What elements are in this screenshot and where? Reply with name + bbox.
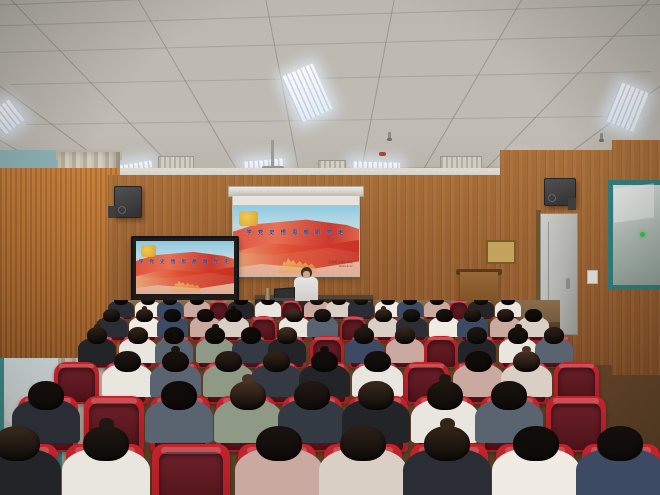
seat-frame-highlight — [428, 337, 454, 340]
audience-member — [375, 309, 391, 322]
slide-footer: 芜湖职业技术学院 2021.6.17 — [328, 260, 353, 269]
slide-content: 学 党 史 悟 思 想 跟 党 走 芜湖职业技术学院 2021.6.17 — [233, 205, 359, 276]
audience-member — [286, 309, 302, 322]
seat-frame-highlight — [161, 447, 220, 454]
audience-member — [597, 426, 644, 461]
audience-member — [190, 300, 203, 305]
audience-head — [525, 309, 541, 322]
audience-member — [381, 300, 394, 305]
audience-head — [28, 381, 64, 410]
seat-frame-highlight — [253, 317, 274, 320]
audience-member — [261, 300, 274, 305]
presenter-shirt — [294, 277, 318, 301]
seated-presenter — [294, 267, 318, 301]
sprinkler-head-center — [388, 132, 391, 140]
seat-frame-highlight — [559, 364, 593, 368]
audience-head — [513, 351, 540, 373]
audience-member — [491, 381, 527, 410]
audience-member — [103, 309, 119, 322]
audience-head — [544, 327, 564, 344]
audience-head — [508, 327, 528, 344]
audience-member — [403, 309, 419, 322]
audience-head — [340, 426, 387, 461]
audience-member — [354, 327, 374, 344]
audience-member — [332, 300, 345, 305]
seat-frame-highlight — [343, 317, 364, 320]
audience-head — [263, 351, 290, 373]
wall-plaque — [486, 240, 516, 264]
audience-member — [294, 381, 330, 410]
audience-hair-bun — [94, 324, 101, 330]
audience-member — [513, 426, 560, 461]
audience-hair-bun — [212, 324, 219, 330]
audience-member — [508, 327, 528, 344]
audience-head — [0, 426, 40, 461]
audience-head — [491, 381, 527, 410]
audience-member — [430, 300, 443, 305]
sprinkler-head-right — [600, 133, 603, 141]
seat-frame-highlight — [211, 301, 228, 303]
audience-head — [358, 381, 394, 410]
tv-slide-content: 学 党 史 悟 思 想 跟 党 走 — [136, 241, 234, 294]
audience-head — [497, 309, 513, 322]
audience-member — [525, 309, 541, 322]
audience-hair-bun — [381, 306, 387, 310]
presenter-face — [303, 271, 310, 278]
audience-hair-bun — [470, 306, 476, 310]
audience-head — [164, 327, 184, 344]
audience-head — [364, 351, 391, 373]
audience-seating — [0, 300, 660, 495]
light-louver — [0, 99, 25, 135]
audience-member — [427, 381, 463, 410]
audience-head — [513, 426, 560, 461]
audience-member — [197, 309, 213, 322]
audience-member — [544, 327, 564, 344]
audience-head — [465, 351, 492, 373]
audience-member — [230, 381, 266, 410]
audience-member — [114, 300, 127, 305]
ceiling-grid-line — [9, 71, 650, 85]
audience-head — [354, 327, 374, 344]
tv-slide-heading: 学 党 史 悟 思 想 跟 党 走 — [136, 259, 234, 265]
seat-frame-highlight — [59, 364, 93, 368]
seat-frame-highlight — [283, 301, 300, 303]
audience-head — [277, 327, 297, 344]
audience-head — [128, 327, 148, 344]
audience-member — [128, 327, 148, 344]
audience-head — [215, 351, 242, 373]
audience-member — [465, 351, 492, 373]
audience-head — [241, 327, 261, 344]
slide-footer-date: 2021.6.17 — [328, 264, 353, 269]
audience-head — [424, 426, 471, 461]
lecture-hall-photo: 学 党 史 悟 思 想 跟 党 走 芜湖职业技术学院 2021.6.17 学 党… — [0, 0, 660, 495]
audience-head — [464, 309, 480, 322]
projector-mount-pole — [271, 140, 274, 166]
light-panel-left-edge — [0, 99, 25, 135]
audience-head — [164, 309, 180, 322]
audience-hair-bun — [440, 418, 456, 430]
audience-member — [136, 309, 152, 322]
audience-member — [513, 351, 540, 373]
audience-member — [424, 426, 471, 461]
audience-member — [234, 300, 247, 305]
audience-member — [314, 309, 330, 322]
audience-member — [358, 381, 394, 410]
audience-member — [141, 300, 154, 305]
speaker-right-bracket — [568, 198, 576, 210]
audience-member — [464, 309, 480, 322]
tv-screen-content: 学 党 史 悟 思 想 跟 党 走 — [136, 241, 234, 294]
seat-frame-highlight — [409, 364, 443, 368]
audience-head — [311, 351, 338, 373]
audience-member — [354, 300, 367, 305]
indicator-led — [640, 232, 645, 237]
audience-head — [87, 327, 107, 344]
audience-member — [277, 327, 297, 344]
audience-head — [161, 381, 197, 410]
projection-screen: 学 党 史 悟 思 想 跟 党 走 芜湖职业技术学院 2021.6.17 — [232, 195, 360, 277]
audience-member — [0, 426, 40, 461]
audience-member — [225, 309, 241, 322]
audience-member — [161, 381, 197, 410]
audience-member — [310, 300, 323, 305]
audience-member — [311, 351, 338, 373]
seat-upholstery — [159, 452, 223, 495]
window-glare — [614, 183, 654, 223]
smoke-detector — [379, 152, 386, 156]
audience-head — [197, 309, 213, 322]
audience-member — [164, 309, 180, 322]
audience-member — [28, 381, 64, 410]
audience-member — [215, 351, 242, 373]
audience-head — [205, 327, 225, 344]
audience-head — [256, 426, 303, 461]
audience-head — [103, 309, 119, 322]
audience-head — [403, 309, 419, 322]
audience-head — [136, 309, 152, 322]
audience-head — [114, 351, 141, 373]
audience-head — [597, 426, 644, 461]
audience-hair-bun — [99, 418, 115, 430]
seat-frame-highlight — [451, 301, 468, 303]
speaker-left-bracket — [108, 206, 116, 218]
audience-hair-bun — [142, 306, 148, 310]
audience-member — [114, 351, 141, 373]
ceiling-grid-line — [0, 34, 660, 53]
audience-member — [83, 426, 130, 461]
audience-head — [375, 309, 391, 322]
audience-member — [263, 351, 290, 373]
audience-head — [395, 327, 415, 344]
auditorium-seat[interactable] — [152, 444, 230, 495]
screen-top-band — [233, 196, 359, 205]
audience-member — [501, 300, 514, 305]
audience-head — [294, 381, 330, 410]
audience-member — [162, 351, 189, 373]
slide-anniversary-emblem — [239, 211, 258, 227]
audience-head — [286, 309, 302, 322]
audience-member — [256, 426, 303, 461]
slide-heading: 学 党 史 悟 思 想 跟 党 走 — [233, 229, 359, 236]
seat-frame-highlight — [91, 398, 137, 404]
audience-member — [395, 327, 415, 344]
audience-member — [467, 327, 487, 344]
audience-head — [230, 381, 266, 410]
audience-head — [162, 351, 189, 373]
audience-hair-bun — [515, 324, 522, 330]
ceiling-grid-line — [0, 3, 660, 27]
tv-anniversary-emblem — [141, 245, 156, 257]
audience-member — [497, 309, 513, 322]
audience-member — [163, 300, 176, 305]
audience-member — [340, 426, 387, 461]
light-switch-panel[interactable] — [587, 270, 598, 284]
wall-tv-monitor: 学 党 史 悟 思 想 跟 党 走 — [131, 236, 239, 302]
ceiling-grid-line — [26, 116, 634, 125]
audience-member — [403, 300, 416, 305]
ceiling-grid-line — [0, 0, 660, 7]
audience-member — [87, 327, 107, 344]
audience-member — [164, 327, 184, 344]
audience-head — [225, 309, 241, 322]
light-panel-right-far — [605, 82, 649, 132]
audience-member — [474, 300, 487, 305]
seat-frame-highlight — [553, 398, 599, 404]
audience-member — [436, 309, 452, 322]
light-panel-center — [281, 63, 332, 123]
audience-head — [467, 327, 487, 344]
light-louver — [281, 63, 332, 123]
audience-head — [83, 426, 130, 461]
wall-speaker-left — [114, 186, 142, 218]
door-handle[interactable] — [566, 278, 570, 289]
audience-hair-bun — [231, 306, 237, 310]
audience-head — [436, 309, 452, 322]
audience-member — [241, 327, 261, 344]
light-louver — [605, 82, 649, 132]
seat-frame-highlight — [314, 337, 340, 340]
audience-hair-bun — [361, 324, 368, 330]
audience-head — [314, 309, 330, 322]
audience-head — [427, 381, 463, 410]
audience-member — [205, 327, 225, 344]
audience-member — [364, 351, 391, 373]
